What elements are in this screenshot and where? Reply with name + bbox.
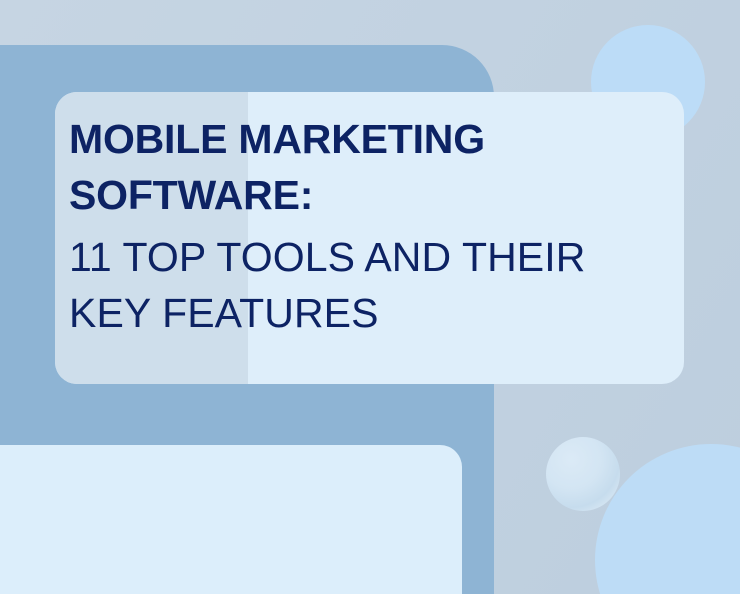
heading-line-2: SOFTWARE:	[69, 167, 676, 223]
subheading-line-2: KEY FEATURES	[69, 285, 676, 341]
circle-bottom-small-icon	[546, 437, 620, 511]
poster-canvas: MOBILE MARKETING SOFTWARE: 11 TOP TOOLS …	[0, 0, 740, 594]
title-block: MOBILE MARKETING SOFTWARE: 11 TOP TOOLS …	[69, 111, 676, 341]
bottom-card-decoration	[0, 445, 462, 594]
heading-line-1: MOBILE MARKETING	[69, 111, 676, 167]
subheading-line-1: 11 TOP TOOLS AND THEIR	[69, 229, 676, 285]
title-card: MOBILE MARKETING SOFTWARE: 11 TOP TOOLS …	[55, 92, 684, 384]
